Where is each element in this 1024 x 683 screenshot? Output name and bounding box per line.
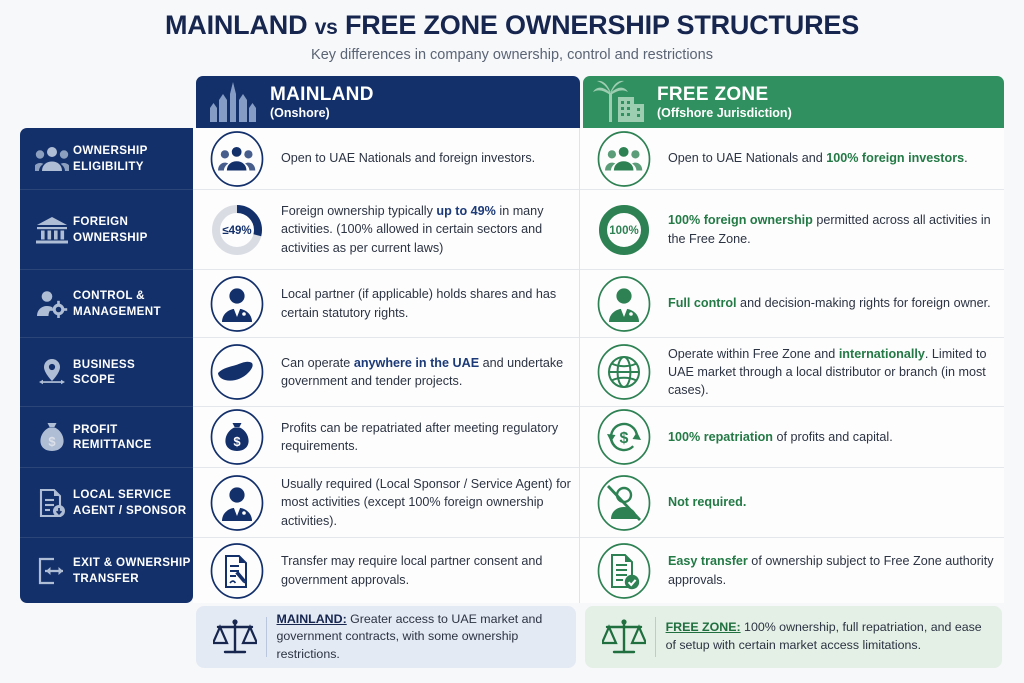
businessperson-circle-icon [193, 474, 281, 532]
column-freezone-cells: Open to UAE Nationals and 100% foreign i… [580, 128, 1004, 603]
cell-freezone: 100%100% foreign ownership permitted acr… [580, 190, 1004, 270]
summary-box-mainland: MAINLAND: Greater access to UAE market a… [196, 606, 576, 668]
svg-text:≤49%: ≤49% [222, 225, 251, 237]
no-person-circle-icon [580, 474, 668, 532]
cell-text: Full control and decision-making rights … [668, 294, 991, 312]
cell-mainland: Can operate anywhere in the UAE and unde… [193, 338, 579, 407]
summary-row: MAINLAND: Greater access to UAE market a… [196, 606, 1002, 668]
cell-mainland: Open to UAE Nationals and foreign invest… [193, 128, 579, 190]
cell-text: 100% repatriation of profits and capital… [668, 428, 893, 446]
title-part-1: MAINLAND [165, 10, 307, 40]
scales-icon [593, 617, 655, 657]
group-people-circle-icon [580, 130, 668, 188]
cell-mainland: Local partner (if applicable) holds shar… [193, 270, 579, 338]
document-agent-icon [31, 488, 73, 518]
column-header-mainland-sub: (Onshore) [270, 106, 374, 120]
cell-mainland: ≤49%Foreign ownership typically up to 49… [193, 190, 579, 270]
cell-text: Easy transfer of ownership subject to Fr… [668, 552, 996, 589]
comparison-table: MAINLAND (Onshore) [20, 76, 1004, 603]
page-subtitle: Key differences in company ownership, co… [0, 47, 1024, 63]
money-bag-circle-icon: $ [193, 408, 281, 466]
group-people-icon [31, 146, 73, 172]
table-body: OWNERSHIPELIGIBILITYFOREIGNOWNERSHIPCONT… [20, 128, 1004, 603]
summary-divider-mainland [266, 617, 267, 657]
row-label-text: EXIT & OWNERSHIPTRANSFER [73, 555, 191, 586]
svg-text:100%: 100% [609, 225, 638, 237]
row-label-rail: OWNERSHIPELIGIBILITYFOREIGNOWNERSHIPCONT… [20, 128, 193, 603]
cell-text: Open to UAE Nationals and foreign invest… [281, 149, 535, 167]
cell-text: Foreign ownership typically up to 49% in… [281, 202, 571, 257]
row-label-control[interactable]: CONTROL &MANAGEMENT [20, 270, 193, 338]
globe-circle-icon [580, 343, 668, 401]
row-label-profit[interactable]: $PROFITREMITTANCE [20, 407, 193, 468]
column-header-mainland: MAINLAND (Onshore) [196, 76, 580, 128]
cell-freezone: Operate within Free Zone and internation… [580, 338, 1004, 407]
cell-text: 100% foreign ownership permitted across … [668, 211, 996, 248]
row-label-text: LOCAL SERVICEAGENT / SPONSOR [73, 487, 186, 518]
cell-freezone: Easy transfer of ownership subject to Fr… [580, 538, 1004, 603]
row-label-text: PROFITREMITTANCE [73, 422, 152, 453]
cell-mainland: Usually required (Local Sponsor / Servic… [193, 468, 579, 538]
summary-box-freezone: FREE ZONE: 100% ownership, full repatria… [585, 606, 1002, 668]
column-header-freezone: FREE ZONE (Offshore Jurisdiction) [583, 76, 1004, 128]
donut-chart-icon: 100% [580, 201, 668, 259]
donut-chart-icon: ≤49% [193, 201, 281, 259]
bank-building-icon [31, 216, 73, 244]
column-header-freezone-sub: (Offshore Jurisdiction) [657, 106, 792, 120]
column-mainland-cells: Open to UAE Nationals and foreign invest… [193, 128, 580, 603]
scales-icon [204, 617, 266, 657]
cell-freezone: Not required. [580, 468, 1004, 538]
cell-text: Can operate anywhere in the UAE and unde… [281, 354, 571, 391]
person-gear-icon [31, 290, 73, 318]
column-header-freezone-title: FREE ZONE [657, 84, 792, 105]
map-pin-icon [31, 358, 73, 386]
row-label-foreign[interactable]: FOREIGNOWNERSHIP [20, 190, 193, 270]
title-vs: vs [315, 16, 338, 39]
skyline-icon [196, 80, 270, 124]
exit-transfer-icon [31, 557, 73, 585]
cell-text: Usually required (Local Sponsor / Servic… [281, 475, 571, 530]
uae-map-circle-icon [193, 343, 281, 401]
cell-text: Operate within Free Zone and internation… [668, 345, 996, 400]
signed-document-circle-icon [193, 542, 281, 600]
palm-tower-icon [583, 79, 657, 125]
row-label-business[interactable]: BUSINESSSCOPE [20, 338, 193, 407]
cell-freezone: Open to UAE Nationals and 100% foreign i… [580, 128, 1004, 190]
approved-document-circle-icon [580, 542, 668, 600]
cell-text: Not required. [668, 493, 746, 511]
cell-text: Transfer may require local partner conse… [281, 552, 571, 589]
money-bag-icon: $ [31, 422, 73, 452]
column-header-mainland-title: MAINLAND [270, 84, 374, 105]
row-label-text: BUSINESSSCOPE [73, 357, 135, 388]
cell-text: Local partner (if applicable) holds shar… [281, 285, 571, 322]
svg-text:$: $ [233, 434, 241, 449]
row-label-text: FOREIGNOWNERSHIP [73, 214, 148, 245]
summary-text-mainland: MAINLAND: Greater access to UAE market a… [277, 611, 565, 664]
group-people-circle-icon [193, 130, 281, 188]
summary-text-freezone: FREE ZONE: 100% ownership, full repatria… [666, 619, 990, 654]
summary-tag-freezone: FREE ZONE: [666, 620, 741, 634]
row-label-text: CONTROL &MANAGEMENT [73, 288, 161, 319]
row-label-local-service[interactable]: LOCAL SERVICEAGENT / SPONSOR [20, 468, 193, 538]
cell-mainland: $Profits can be repatriated after meetin… [193, 407, 579, 468]
svg-text:$: $ [48, 434, 56, 449]
cell-text: Open to UAE Nationals and 100% foreign i… [668, 149, 968, 167]
table-column-headers: MAINLAND (Onshore) [196, 76, 1004, 128]
summary-tag-mainland: MAINLAND: [277, 612, 347, 626]
businessperson-circle-icon [193, 275, 281, 333]
cell-freezone: Full control and decision-making rights … [580, 270, 1004, 338]
cell-text: Profits can be repatriated after meeting… [281, 419, 571, 456]
svg-text:$: $ [620, 430, 629, 447]
row-label-ownership[interactable]: OWNERSHIPELIGIBILITY [20, 128, 193, 190]
cell-mainland: Transfer may require local partner conse… [193, 538, 579, 603]
dollar-refresh-circle-icon: $ [580, 408, 668, 466]
row-label-text: OWNERSHIPELIGIBILITY [73, 143, 148, 174]
summary-divider-freezone [655, 617, 656, 657]
title-part-2: FREE ZONE OWNERSHIP STRUCTURES [345, 10, 859, 40]
cell-freezone: $100% repatriation of profits and capita… [580, 407, 1004, 468]
row-label-exit-ownership[interactable]: EXIT & OWNERSHIPTRANSFER [20, 538, 193, 603]
infographic-root: MAINLAND vs FREE ZONE OWNERSHIP STRUCTUR… [0, 0, 1024, 683]
businessperson-circle-icon [580, 275, 668, 333]
page-title: MAINLAND vs FREE ZONE OWNERSHIP STRUCTUR… [0, 0, 1024, 41]
